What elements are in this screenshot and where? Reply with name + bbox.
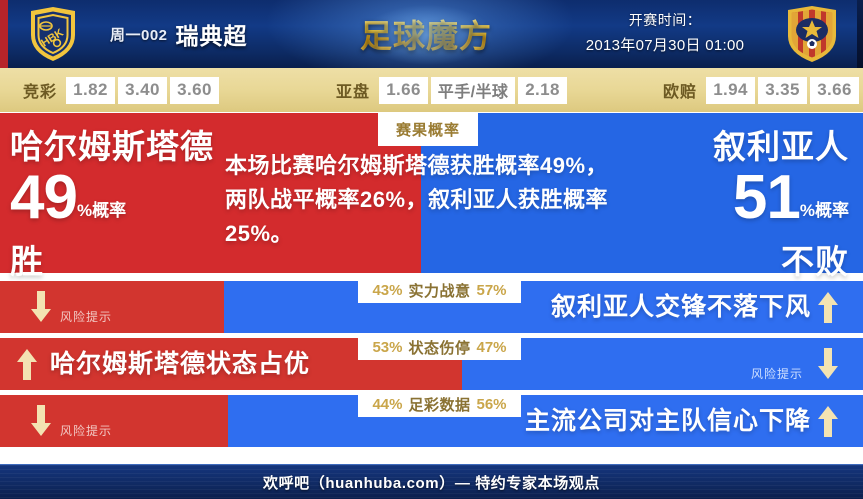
match-meta: 周一002 瑞典超 <box>110 10 360 58</box>
arrow-down-icon <box>30 290 52 324</box>
home-team-name: 哈尔姆斯塔德 <box>10 127 214 167</box>
odds-group-label: 欧赔 <box>654 78 706 102</box>
match-analysis-infographic: HBK 周一002 瑞典超 足球魔方 开赛时间： 2013年07月30日 01:… <box>0 0 863 499</box>
tab-result-probability-label: 赛果概率 <box>396 119 460 140</box>
odds-cell[interactable]: 2.18 <box>518 77 567 104</box>
brand-logo-text: 足球魔方 <box>360 11 492 57</box>
arrow-down-icon <box>30 404 52 438</box>
stat-chip-left-pct: 43% <box>372 282 402 299</box>
kickoff-value: 2013年07月30日 01:00 <box>560 33 770 58</box>
odds-cell[interactable]: 3.40 <box>118 77 167 104</box>
stat-row-form: 哈尔姆斯塔德状态占优 53% 状态伤停 47% 风险提示 <box>0 338 863 390</box>
arrow-up-icon <box>817 290 839 324</box>
away-team-name: 叙利亚人 <box>713 127 849 167</box>
match-number: 周一002 <box>110 24 168 45</box>
home-team-crest-icon: HBK <box>24 5 82 63</box>
odds-cell[interactable]: 3.66 <box>810 77 859 104</box>
stat-row-verdict: 叙利亚人交锋不落下风 <box>551 291 811 323</box>
home-probability: 49%概率 <box>10 167 214 243</box>
stat-row-risk-label: 风险提示 <box>751 365 803 382</box>
league-name: 瑞典超 <box>176 17 248 51</box>
arrow-up-icon <box>16 347 38 381</box>
header-right-accent <box>857 0 863 68</box>
stat-chip-left-pct: 44% <box>372 396 402 413</box>
odds-group-label: 亚盘 <box>327 78 379 102</box>
odds-bar: 竞彩 1.82 3.40 3.60 亚盘 1.66 平手/半球 2.18 欧赔 … <box>0 68 863 112</box>
odds-cell[interactable]: 1.94 <box>706 77 755 104</box>
stat-row-betting-data: 风险提示 44% 足彩数据 56% 主流公司对主队信心下降 <box>0 395 863 447</box>
footer-credit-text: 欢呼吧（huanhuba.com）— 特约专家本场观点 <box>263 472 600 493</box>
odds-group-label: 竞彩 <box>14 78 66 102</box>
odds-cell-handicap[interactable]: 平手/半球 <box>431 77 515 104</box>
away-probability: 51%概率 <box>713 167 849 243</box>
header-bar: HBK 周一002 瑞典超 足球魔方 开赛时间： 2013年07月30日 01:… <box>0 0 863 68</box>
odds-group-jingcai: 竞彩 1.82 3.40 3.60 <box>14 77 222 104</box>
stat-row-risk-label: 风险提示 <box>60 308 112 325</box>
stat-row-blue-pane <box>462 338 863 390</box>
away-team-crest-icon <box>782 4 842 64</box>
stat-chip-left-pct: 53% <box>372 339 402 356</box>
footer-bar: 欢呼吧（huanhuba.com）— 特约专家本场观点 <box>0 464 863 499</box>
stat-chip-right-pct: 56% <box>477 396 507 413</box>
stat-chip-right-pct: 47% <box>477 339 507 356</box>
away-probability-unit: %概率 <box>800 201 849 220</box>
stat-chip-name: 状态伤停 <box>408 337 470 358</box>
stat-chip-name: 足彩数据 <box>408 394 470 415</box>
tab-result-probability[interactable]: 赛果概率 <box>378 113 478 146</box>
odds-cell[interactable]: 1.82 <box>66 77 115 104</box>
stat-row-verdict: 哈尔姆斯塔德状态占优 <box>50 348 310 380</box>
stat-chip-betting-data: 44% 足彩数据 56% <box>358 392 521 417</box>
stat-chip-form: 53% 状态伤停 47% <box>358 335 521 360</box>
home-headline: 哈尔姆斯塔德 49%概率 胜 <box>10 127 214 281</box>
probability-band: 赛果概率 哈尔姆斯塔德 49%概率 胜 叙利亚人 51%概率 不败 本场比赛哈尔… <box>0 113 863 273</box>
away-headline: 叙利亚人 51%概率 不败 <box>713 127 849 281</box>
home-outcome-label: 胜 <box>10 243 214 281</box>
stat-chip-strength: 43% 实力战意 57% <box>358 278 521 303</box>
arrow-up-icon <box>817 404 839 438</box>
arrow-down-icon <box>817 347 839 381</box>
kickoff-label: 开赛时间： <box>560 8 770 33</box>
odds-cell[interactable]: 1.66 <box>379 77 428 104</box>
header-left-accent <box>0 0 8 68</box>
away-probability-value: 51 <box>733 163 800 232</box>
odds-group-oupei: 欧赔 1.94 3.35 3.66 <box>654 77 862 104</box>
stat-chip-right-pct: 57% <box>477 282 507 299</box>
brand-logo: 足球魔方 <box>356 6 496 62</box>
stat-row-strength: 风险提示 43% 实力战意 57% 叙利亚人交锋不落下风 <box>0 281 863 333</box>
odds-cell[interactable]: 3.35 <box>758 77 807 104</box>
kickoff-time: 开赛时间： 2013年07月30日 01:00 <box>560 8 770 60</box>
away-outcome-label: 不败 <box>713 243 849 281</box>
stat-row-verdict: 主流公司对主队信心下降 <box>525 405 811 437</box>
odds-cell[interactable]: 3.60 <box>170 77 219 104</box>
odds-group-yapan: 亚盘 1.66 平手/半球 2.18 <box>327 77 570 104</box>
home-probability-unit: %概率 <box>77 201 126 220</box>
stat-chip-name: 实力战意 <box>408 280 470 301</box>
probability-summary-text: 本场比赛哈尔姆斯塔德获胜概率49%，两队战平概率26%，叙利亚人获胜概率25%。 <box>225 149 615 251</box>
home-probability-value: 49 <box>10 163 77 232</box>
stat-row-risk-label: 风险提示 <box>60 422 112 439</box>
